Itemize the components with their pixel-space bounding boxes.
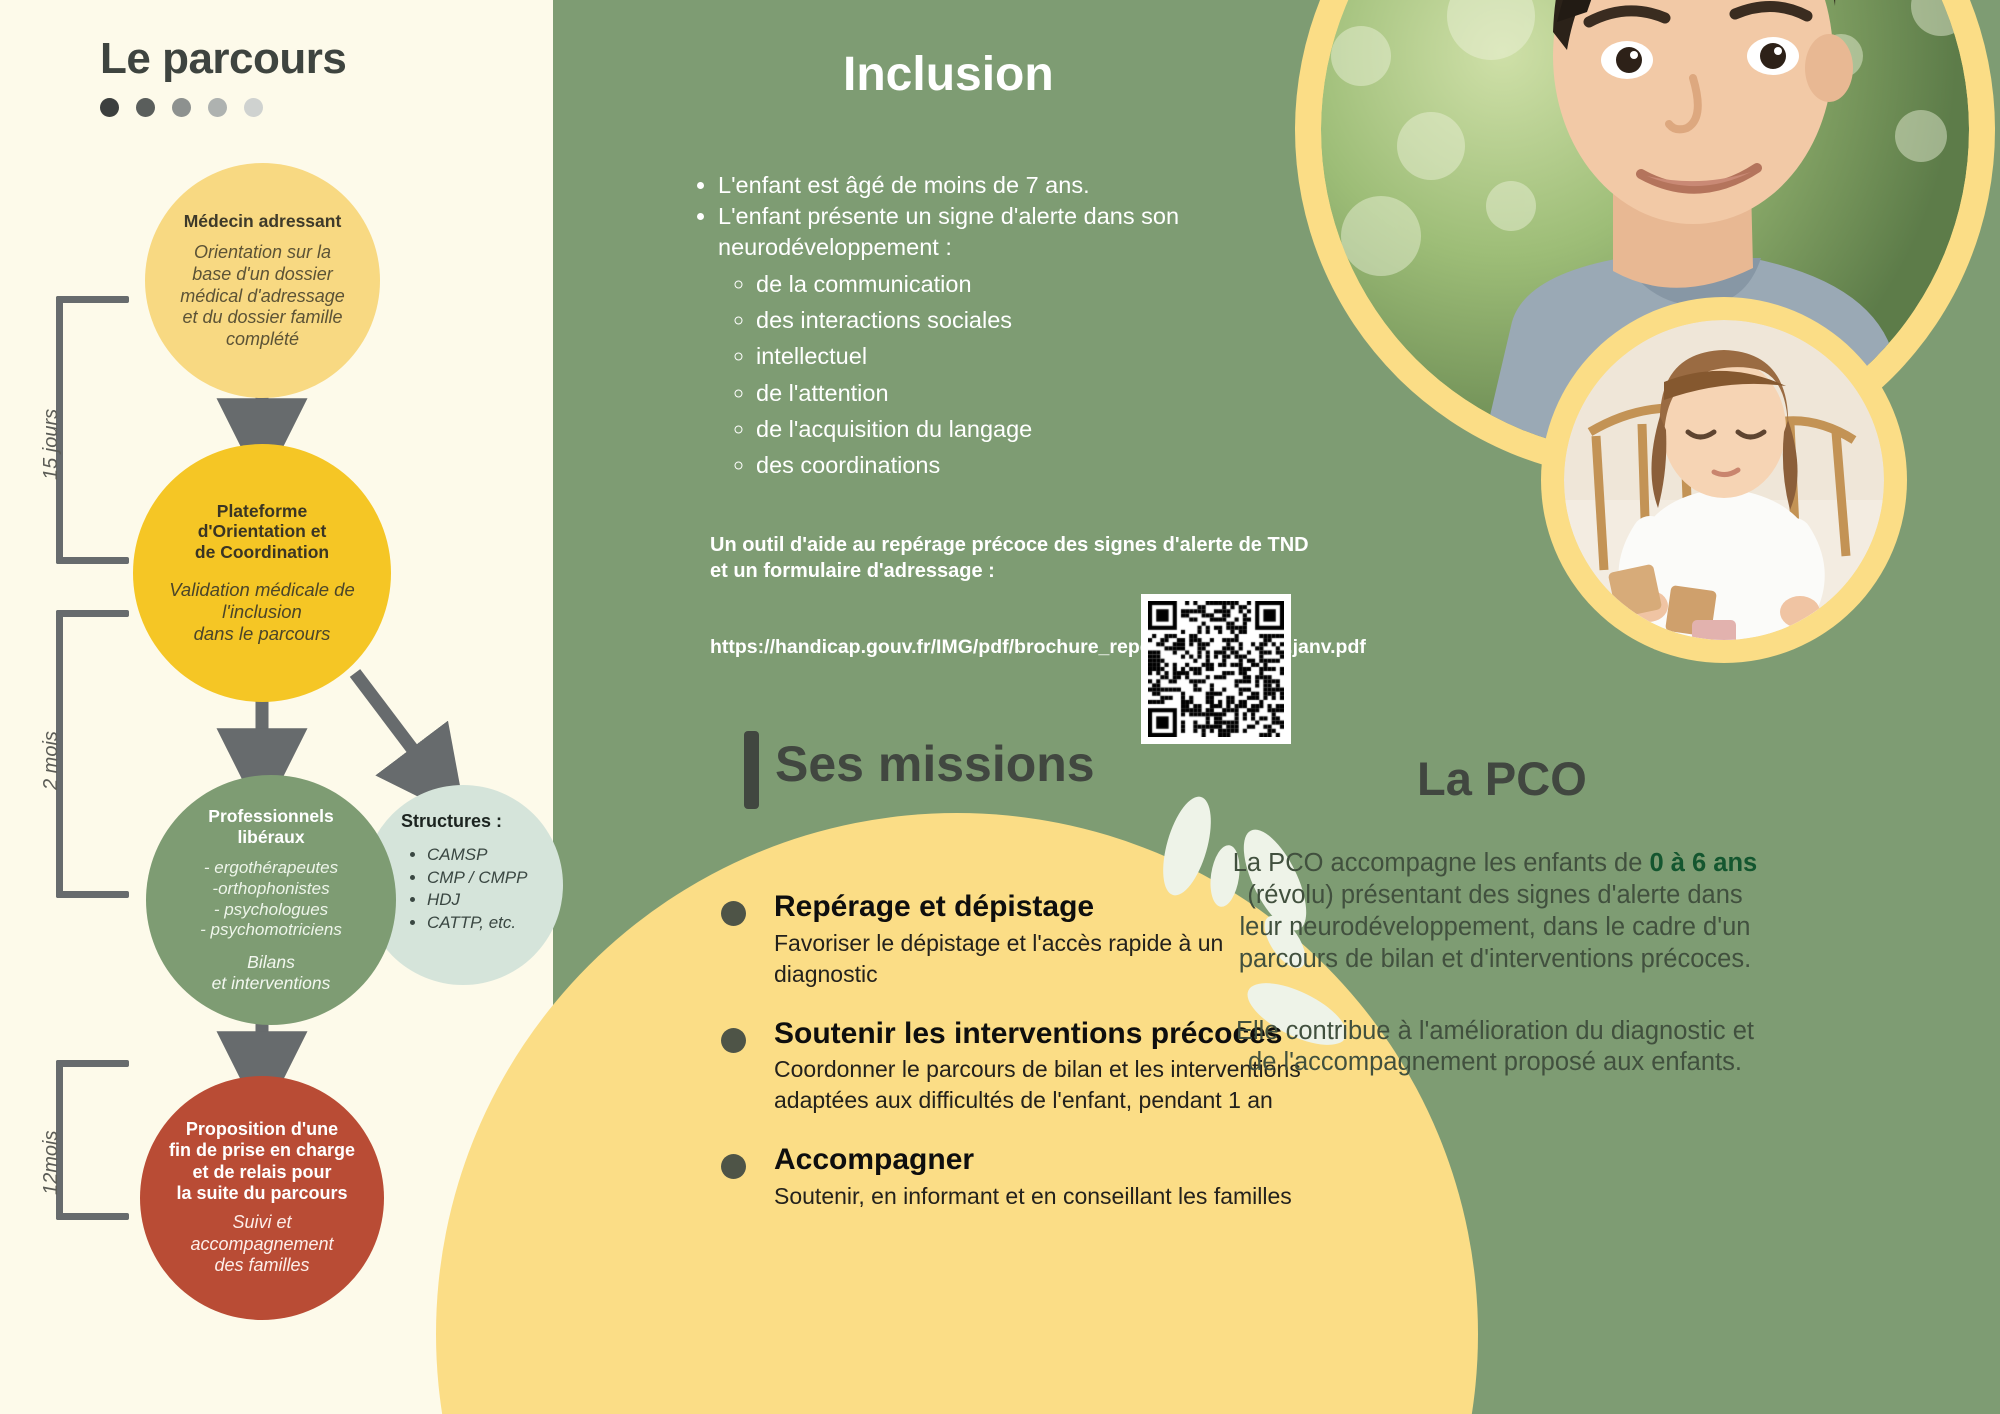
pco-description: La PCO accompagne les enfants de 0 à 6 a… xyxy=(1225,848,1765,1079)
structure-item: CAMSP xyxy=(427,844,527,867)
node-title: Professionnels libéraux xyxy=(208,806,333,847)
mission-heading: Accompagner xyxy=(774,1143,1321,1177)
pco-p1-c: (révolu) présentant des signes d'alerte … xyxy=(1239,881,1751,973)
inclusion-sub-bullet: de l'attention xyxy=(756,375,1263,411)
node-subtitle: Orientation sur la base d'un dossier méd… xyxy=(180,242,345,350)
inclusion-bullet: L'enfant est âgé de moins de 7 ans. xyxy=(718,170,1263,200)
photo-toddler-blocks xyxy=(1564,320,1884,640)
brochure-url: https://handicap.gouv.fr/IMG/pdf/brochur… xyxy=(710,635,1130,661)
inclusion-sub-list: de la communicationdes interactions soci… xyxy=(756,266,1263,483)
mission-item: AccompagnerSoutenir, en informant et en … xyxy=(721,1143,1321,1212)
node-subtitle: Validation médicale de l'inclusion dans … xyxy=(169,579,354,646)
inclusion-bullet-list: L'enfant est âgé de moins de 7 ans.L'enf… xyxy=(718,170,1263,484)
missions-accent-bar xyxy=(744,731,759,809)
pco-title: La PCO xyxy=(1417,751,1587,806)
pco-paragraph-2: Elle contribue à l'amélioration du diagn… xyxy=(1225,1016,1765,1080)
green-content-panel: Inclusion L'enfant est âgé de moins de 7… xyxy=(553,0,2000,1414)
inclusion-sub-bullet: des interactions sociales xyxy=(756,302,1263,338)
node-title: Structures : xyxy=(401,811,502,832)
photo-toddler-svg xyxy=(1564,320,1884,640)
pco-age-range: 0 à 6 ans xyxy=(1650,849,1758,877)
node-title: Proposition d'une fin de prise en charge… xyxy=(169,1119,355,1204)
pco-p1-a: La PCO accompagne les enfants de xyxy=(1233,849,1650,877)
node-professionnels-liberaux: Professionnels libéraux - ergothérapeute… xyxy=(146,775,396,1025)
inclusion-sub-bullet: de la communication xyxy=(756,266,1263,302)
qr-code[interactable] xyxy=(1141,594,1291,744)
inclusion-sub-bullet: de l'acquisition du langage xyxy=(756,411,1263,447)
node-list: - ergothérapeutes -orthophonistes - psyc… xyxy=(200,858,342,941)
mission-bullet-icon xyxy=(721,901,746,926)
pco-paragraph-1: La PCO accompagne les enfants de 0 à 6 a… xyxy=(1225,848,1765,976)
mission-bullet-icon xyxy=(721,1154,746,1179)
node-title: Plateforme d'Orientation et de Coordinat… xyxy=(195,501,329,563)
node-title: Médecin adressant xyxy=(184,211,342,232)
structure-item: CMP / CMPP xyxy=(427,867,527,890)
node-proposition-fin-prise-en-charge: Proposition d'une fin de prise en charge… xyxy=(140,1076,384,1320)
missions-title: Ses missions xyxy=(775,735,1095,793)
node-plateforme-orientation: Plateforme d'Orientation et de Coordinat… xyxy=(133,444,391,702)
inclusion-title: Inclusion xyxy=(843,47,1054,102)
structure-item: CATTP, etc. xyxy=(427,912,527,935)
inclusion-bullet: L'enfant présente un signe d'alerte dans… xyxy=(718,201,1263,483)
structures-list: CAMSPCMP / CMPPHDJCATTP, etc. xyxy=(401,844,527,934)
mission-bullet-icon xyxy=(721,1028,746,1053)
brochure-page: Le parcours 15 jours 2 mois 12mois xyxy=(0,0,2000,1414)
inclusion-sub-bullet: des coordinations xyxy=(756,447,1263,483)
tool-description: Un outil d'aide au repérage précoce des … xyxy=(710,533,1310,584)
inclusion-sub-bullet: intellectuel xyxy=(756,338,1263,374)
mission-body: Soutenir, en informant et en conseillant… xyxy=(774,1181,1321,1212)
node-medecin-adressant: Médecin adressant Orientation sur la bas… xyxy=(145,163,380,398)
node-subtitle: Suivi et accompagnement des familles xyxy=(190,1212,333,1277)
structure-item: HDJ xyxy=(427,889,527,912)
node-subtitle: Bilans et interventions xyxy=(212,952,331,994)
